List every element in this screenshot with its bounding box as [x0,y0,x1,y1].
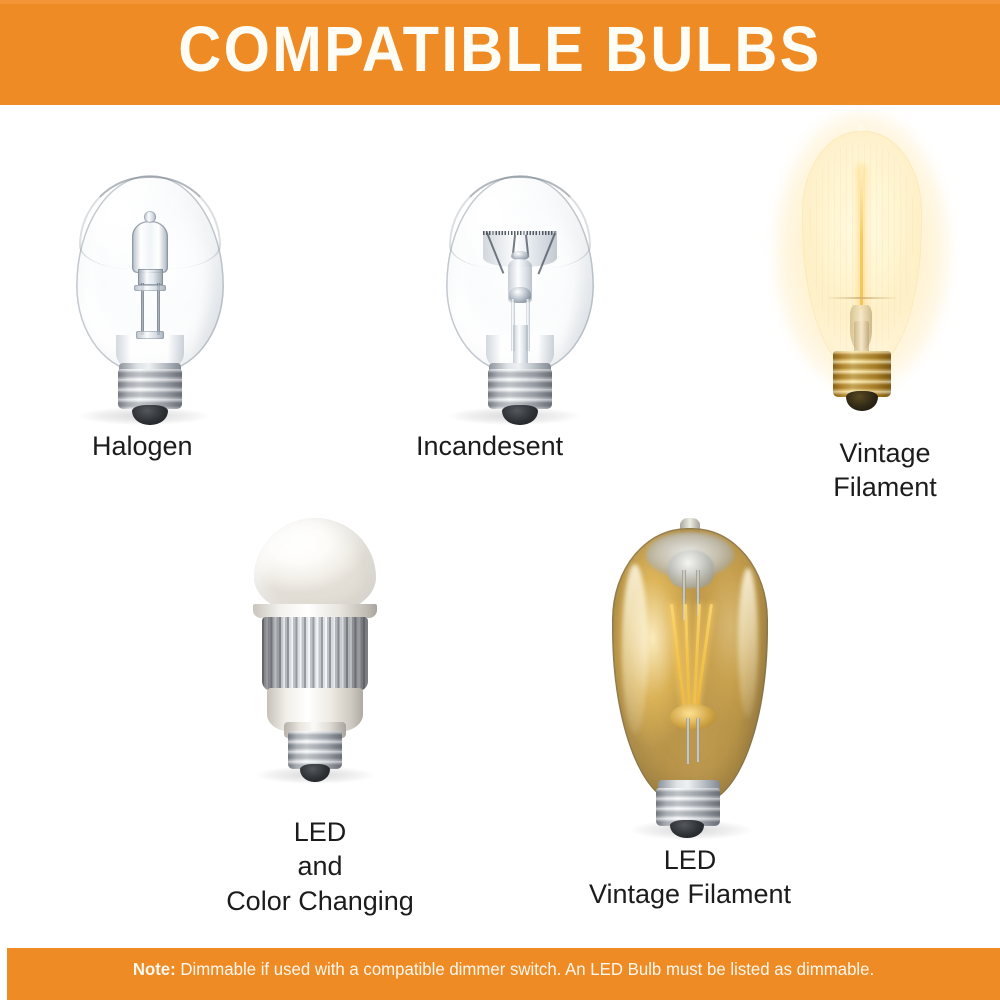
vintage-filament-support-bar [828,297,896,299]
led-vintage-filament-cap-node [668,550,714,588]
vintage-filament-wire [860,167,863,309]
halogen-support-bar [134,285,166,291]
halogen-inner-capsule [132,221,168,273]
vintage-filament-label: Vintage Filament [770,436,1000,505]
vintage-filament-stem-tube [854,321,869,355]
halogen-stem-bead [136,331,164,339]
footer-note-text: Note: Dimmable if used with a compatible… [27,961,980,979]
led-vintage-filament-label: LED Vintage Filament [540,843,840,912]
led-dome-rim [253,604,377,618]
led-label: LED and Color Changing [160,815,480,918]
incandescent-screw-base [488,369,552,409]
led-vintage-filament-bulb-image [608,518,772,840]
led-vintage-filament-lower-post-2 [696,718,700,762]
incandescent-bulb-image [440,175,600,425]
led-vintage-filament-base-hub [670,704,716,730]
incandescent-filament-coil [483,231,557,235]
footer-note-bar: Note: Dimmable if used with a compatible… [7,948,1000,1000]
led-bulb-image [250,518,380,784]
page-title: COMPATIBLE BULBS [35,17,965,81]
led-vintage-filament-lower-post [686,718,690,764]
incandescent-label: Incandesent [390,429,676,463]
led-frosted-dome [254,518,376,614]
header-bar: COMPATIBLE BULBS [0,0,1000,105]
footer-note-label: Note: [133,959,176,979]
halogen-screw-base [118,369,182,409]
halogen-capsule-tip [144,211,156,223]
led-heat-sink-shading [262,617,368,691]
led-vintage-filament-right-gloss [738,568,758,718]
led-vintage-filament-left-gloss [622,564,648,734]
footer-note-body: Dimmable if used with a compatible dimme… [176,959,874,979]
vintage-filament-bulb-image [800,125,924,425]
halogen-bulb-image: Halogen [70,175,230,425]
vintage-filament-base-tip [846,391,878,411]
halogen-label: Halogen [30,429,352,463]
compatible-bulbs-infographic: COMPATIBLE BULBS Halogen Halogen [0,0,1000,1000]
